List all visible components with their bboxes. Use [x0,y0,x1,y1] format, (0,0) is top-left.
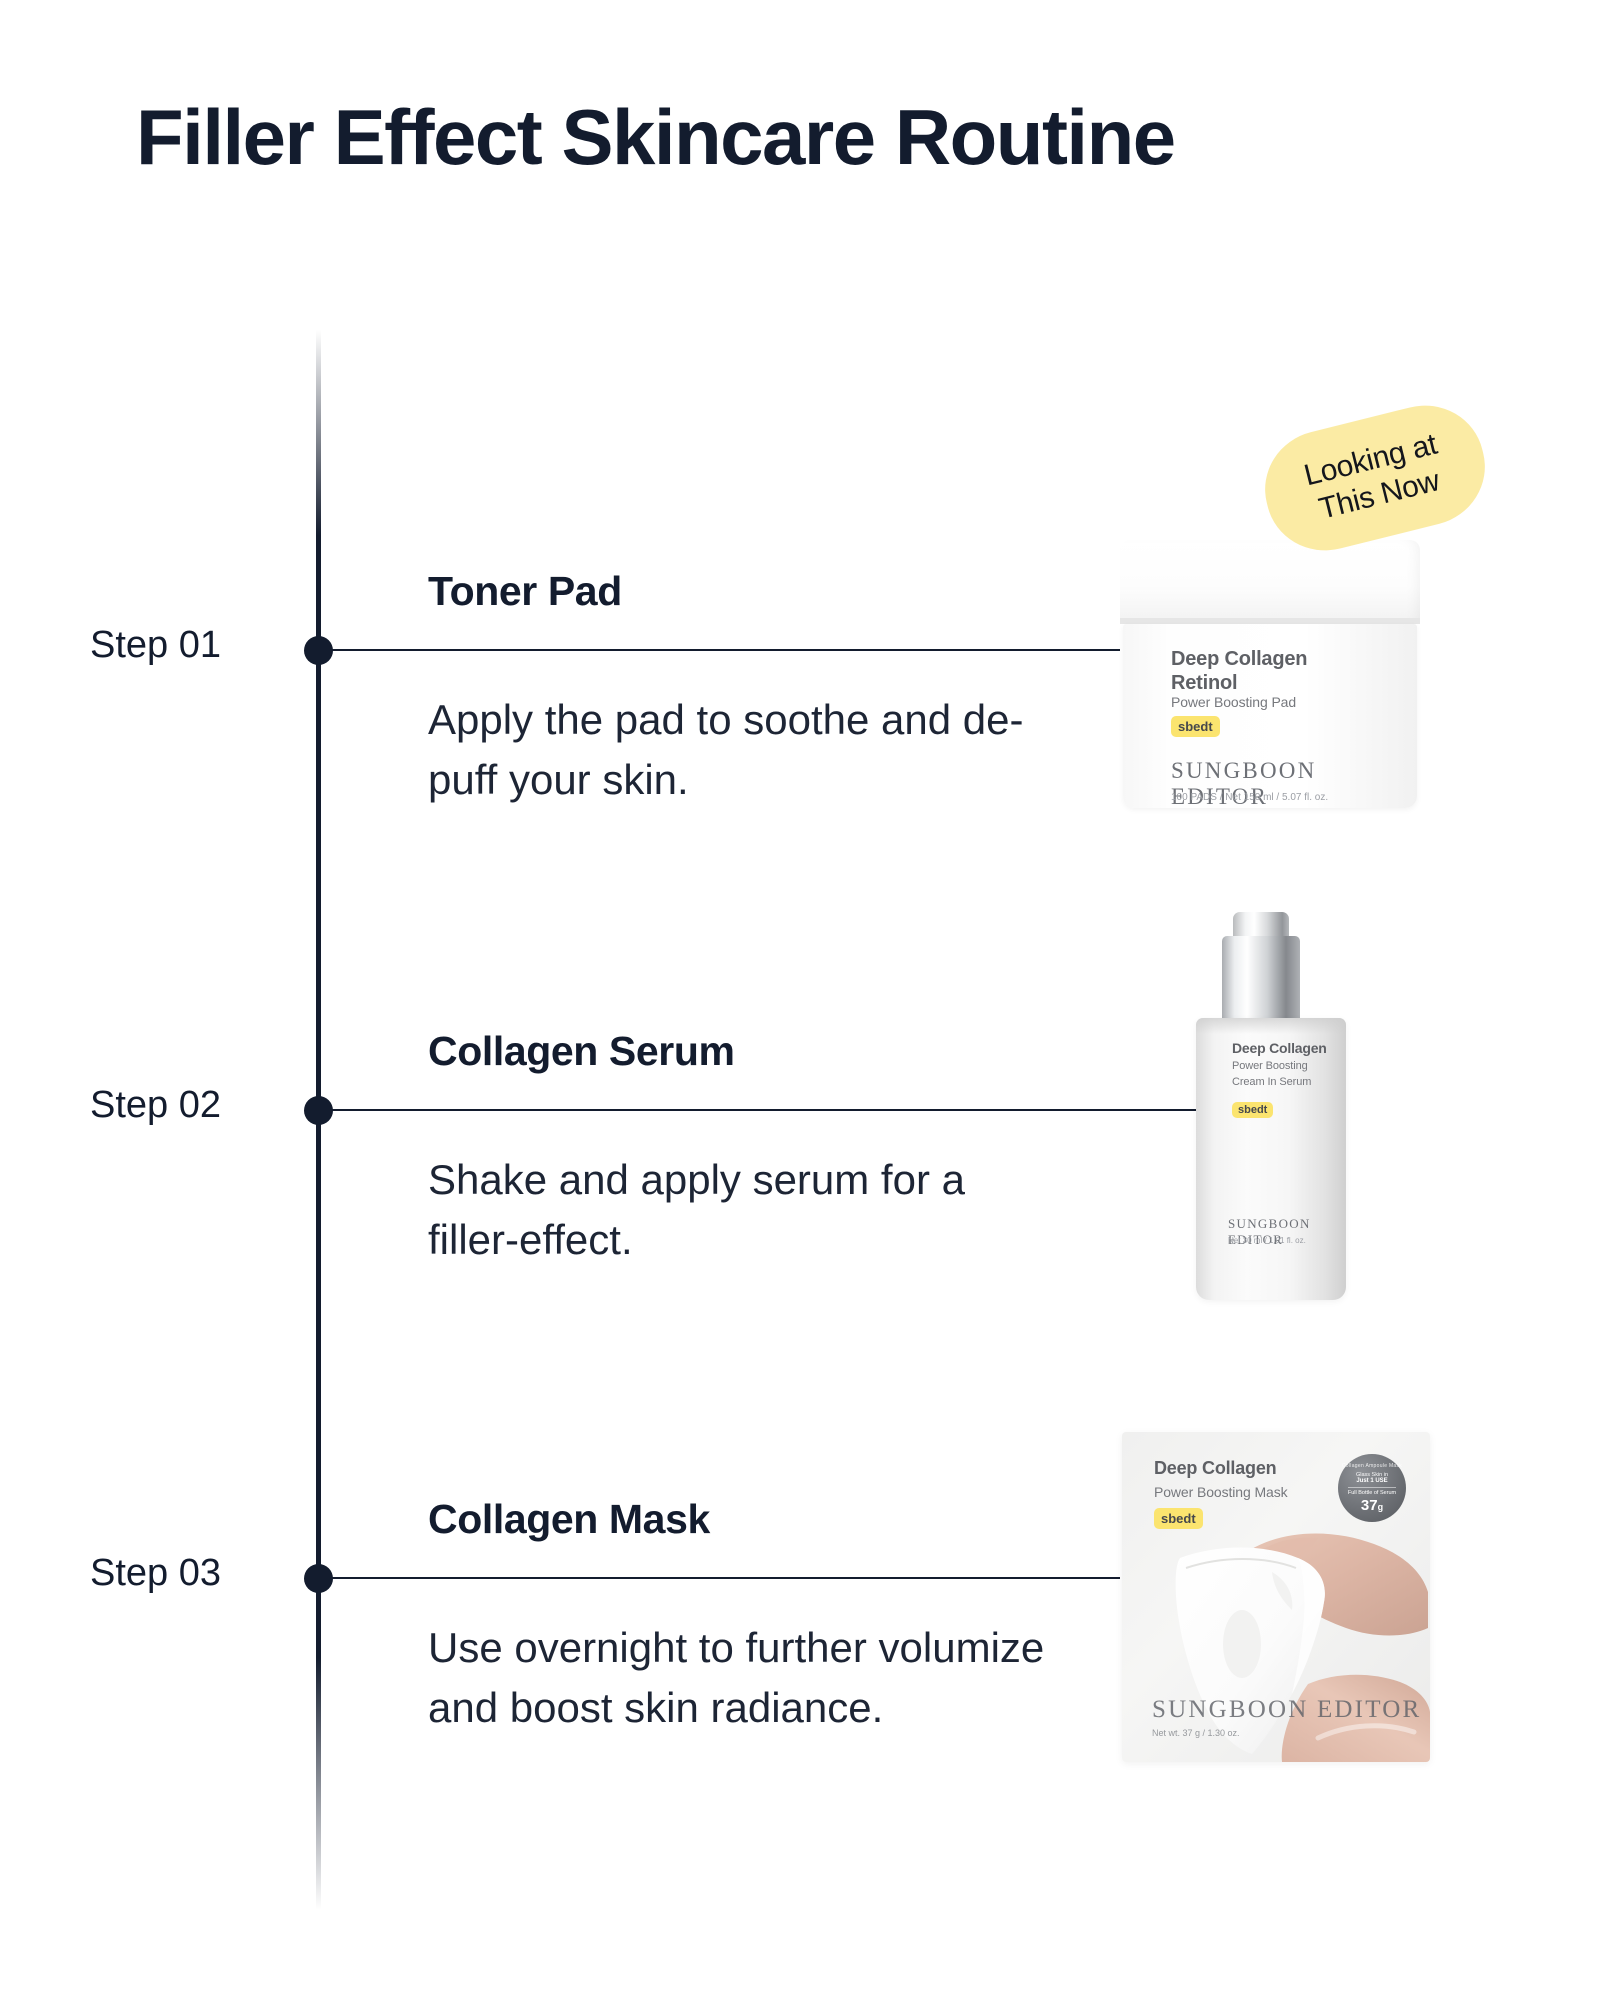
step-title-03: Collagen Mask [428,1496,710,1543]
mask-net-weight: Net wt. 37 g / 1.30 oz. [1152,1728,1240,1738]
mask-seal-badge: Collagen Ampoule Mask Glass Skin in Just… [1338,1454,1406,1522]
product-image-collagen-mask: Deep Collagen Power Boosting Mask sbedt … [1122,1432,1430,1762]
product-image-toner-pad: Deep Collagen Retinol Power Boosting Pad… [1120,540,1420,808]
seal-line-1: Glass Skin in [1356,1472,1388,1478]
product-image-collagen-serum: Deep Collagen Power Boosting Cream In Se… [1196,912,1346,1300]
step-label-01: Step 01 [90,624,290,667]
mask-brand-chip: sbedt [1154,1508,1203,1529]
pad-net-weight: 100 PADS / Net 150 ml / 5.07 fl. oz. [1171,792,1328,803]
step-title-02: Collagen Serum [428,1028,735,1075]
step-connector-01 [330,649,1120,651]
step-title-01: Toner Pad [428,568,622,615]
pad-name-line2: Retinol [1171,672,1237,694]
serum-subtitle-line1: Power Boosting [1232,1060,1308,1072]
step-dot-02 [304,1096,333,1125]
seal-weight-unit: g [1378,1502,1384,1512]
step-connector-02 [330,1109,1198,1111]
page-title: Filler Effect Skincare Routine [136,92,1175,183]
pump-cap-top [1233,912,1289,938]
seal-weight-value: 37 [1361,1497,1378,1514]
seal-line-3: Full Bottle of Serum [1348,1487,1396,1496]
mask-product-name: Deep Collagen [1154,1458,1276,1479]
jar-body: Deep Collagen Retinol Power Boosting Pad… [1123,624,1417,808]
step-dot-03 [304,1564,333,1593]
pad-product-name: Deep Collagen Retinol [1171,648,1307,695]
serum-bottle-body: Deep Collagen Power Boosting Cream In Se… [1196,1018,1346,1300]
step-label-03: Step 03 [90,1552,290,1595]
step-description-02: Shake and apply serum for a filler-effec… [428,1150,1048,1269]
serum-product-name: Deep Collagen [1232,1040,1327,1056]
step-connector-03 [330,1577,1120,1579]
jar-lid [1120,540,1420,624]
step-description-01: Apply the pad to soothe and de-puff your… [428,690,1048,809]
seal-line-2: Just 1 USE [1356,1478,1387,1484]
looking-at-this-now-badge: Looking atThis Now [1253,393,1497,563]
badge-text: Looking atThis Now [1301,427,1450,530]
mask-brand-name: SUNGBOON EDITOR [1152,1696,1421,1724]
step-dot-01 [304,636,333,665]
serum-net-weight: Net 30 ml / 1.01 fl. oz. [1228,1236,1306,1245]
mask-subtitle: Power Boosting Mask [1154,1484,1288,1500]
infographic-page: Filler Effect Skincare Routine Step 01 T… [0,0,1600,2000]
step-label-02: Step 02 [90,1084,290,1127]
pad-name-line1: Deep Collagen [1171,648,1307,670]
step-description-03: Use overnight to further volumize and bo… [428,1618,1048,1737]
serum-subtitle-line2: Cream In Serum [1232,1076,1311,1088]
pad-subtitle: Power Boosting Pad [1171,694,1296,710]
seal-arc-text: Collagen Ampoule Mask [1342,1463,1402,1469]
pad-brand-chip: sbedt [1171,716,1220,737]
serum-brand-chip: sbedt [1232,1102,1273,1118]
pump-cap-body [1222,936,1300,1022]
seal-weight: 37g [1361,1497,1383,1514]
